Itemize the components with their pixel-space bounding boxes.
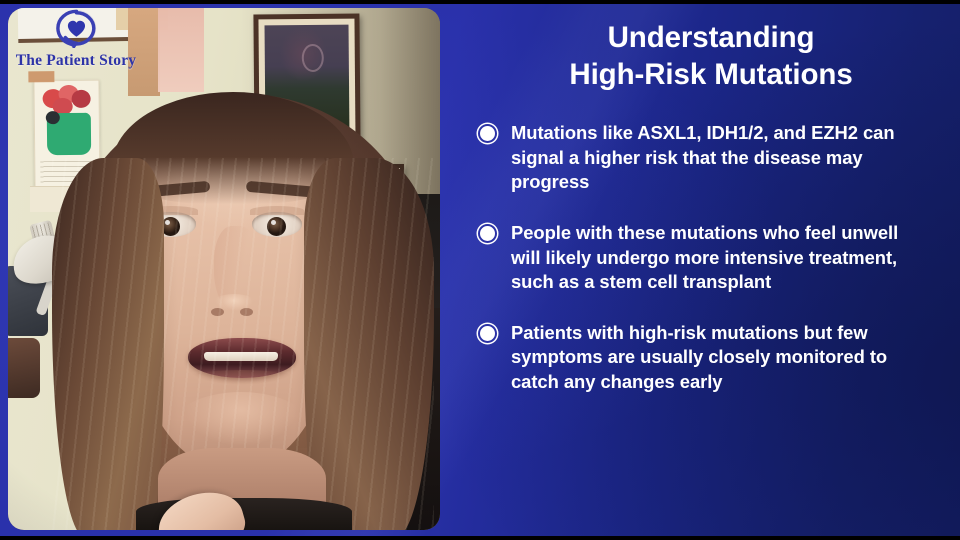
webcam-video-panel[interactable] [8, 8, 440, 530]
bullet-text: Patients with high-risk mutations but fe… [511, 321, 931, 395]
drawing-dark-blob [46, 111, 60, 124]
letterbox-bar-top [0, 0, 960, 4]
title-line-2: High-Risk Mutations [476, 56, 946, 93]
logo-wordmark: The Patient Story [14, 53, 138, 69]
bullet-text: People with these mutations who feel unw… [511, 221, 931, 295]
slide-title: Understanding High-Risk Mutations [462, 19, 960, 93]
brand-logo[interactable]: The Patient Story [14, 8, 138, 74]
desk-clutter-lower [8, 338, 40, 398]
slide-content: Understanding High-Risk Mutations Mutati… [462, 4, 960, 536]
video-slide: The Patient Story Understanding High-Ris… [0, 0, 960, 540]
drawing-flower [72, 90, 91, 108]
list-item: People with these mutations who feel unw… [480, 221, 960, 295]
ringed-dot-bullet-icon [480, 126, 495, 141]
patient-story-heart-swoosh-logo-icon [46, 8, 107, 48]
list-item: Patients with high-risk mutations but fe… [480, 321, 960, 395]
ringed-dot-bullet-icon [480, 226, 495, 241]
letterbox-bar-bottom [0, 536, 960, 540]
bullet-text: Mutations like ASXL1, IDH1/2, and EZH2 c… [511, 121, 931, 195]
ringed-dot-bullet-icon [480, 326, 495, 341]
list-item: Mutations like ASXL1, IDH1/2, and EZH2 c… [480, 121, 960, 195]
bullet-list: Mutations like ASXL1, IDH1/2, and EZH2 c… [462, 121, 960, 394]
title-line-1: Understanding [476, 19, 946, 56]
wall-pink-strip [158, 8, 204, 92]
